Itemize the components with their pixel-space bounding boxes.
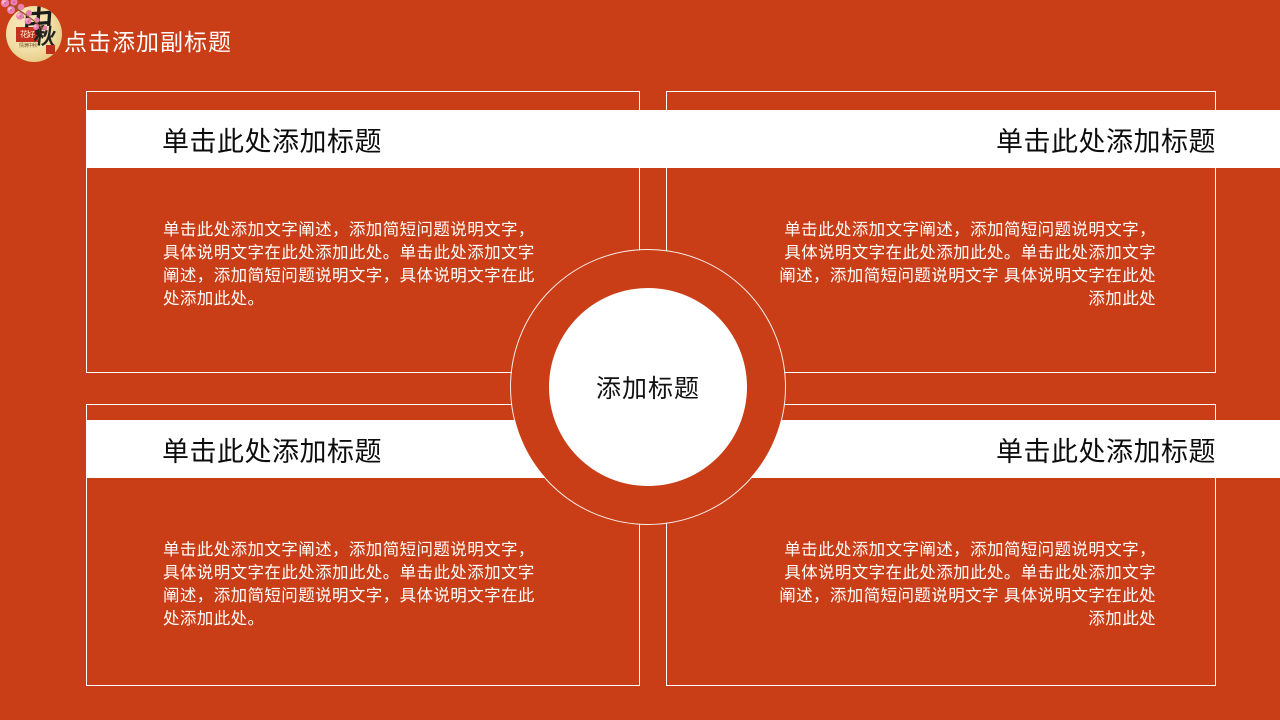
quadrant-top-left-title-band: 单击此处添加标题 bbox=[86, 110, 716, 168]
logo-stamp-icon bbox=[46, 45, 55, 54]
quadrant-bottom-right-title: 单击此处添加标题 bbox=[996, 430, 1216, 469]
quadrant-bottom-left-body: 单击此处添加文字阐述，添加简短问题说明文字，具体说明文字在此处添加此处。单击此处… bbox=[163, 539, 546, 631]
quadrant-bottom-left-title: 单击此处添加标题 bbox=[162, 430, 382, 469]
slide-subtitle: 点击添加副标题 bbox=[64, 23, 232, 57]
quadrant-bottom-right-body: 单击此处添加文字阐述，添加简短问题说明文字，具体说明文字在此处添加此处。单击此处… bbox=[773, 539, 1156, 631]
slide-header: 花好 情满中秋 中 秋 bbox=[0, 0, 1280, 68]
quadrant-top-right-title-band: 单击此处添加标题 bbox=[666, 110, 1280, 168]
quadrant-top-right-body: 单击此处添加文字阐述，添加简短问题说明文字，具体说明文字在此处添加此处。单击此处… bbox=[773, 219, 1156, 311]
center-circle[interactable]: 添加标题 bbox=[549, 288, 747, 486]
quadrant-top-left-title: 单击此处添加标题 bbox=[162, 120, 382, 159]
center-circle-title: 添加标题 bbox=[596, 369, 700, 405]
quadrant-top-right-title: 单击此处添加标题 bbox=[996, 120, 1216, 159]
brand-logo: 花好 情满中秋 中 秋 bbox=[6, 6, 62, 62]
slide-canvas: 花好 情满中秋 中 秋 bbox=[0, 0, 1280, 720]
quadrant-top-left-body: 单击此处添加文字阐述，添加简短问题说明文字，具体说明文字在此处添加此处。单击此处… bbox=[163, 219, 546, 311]
